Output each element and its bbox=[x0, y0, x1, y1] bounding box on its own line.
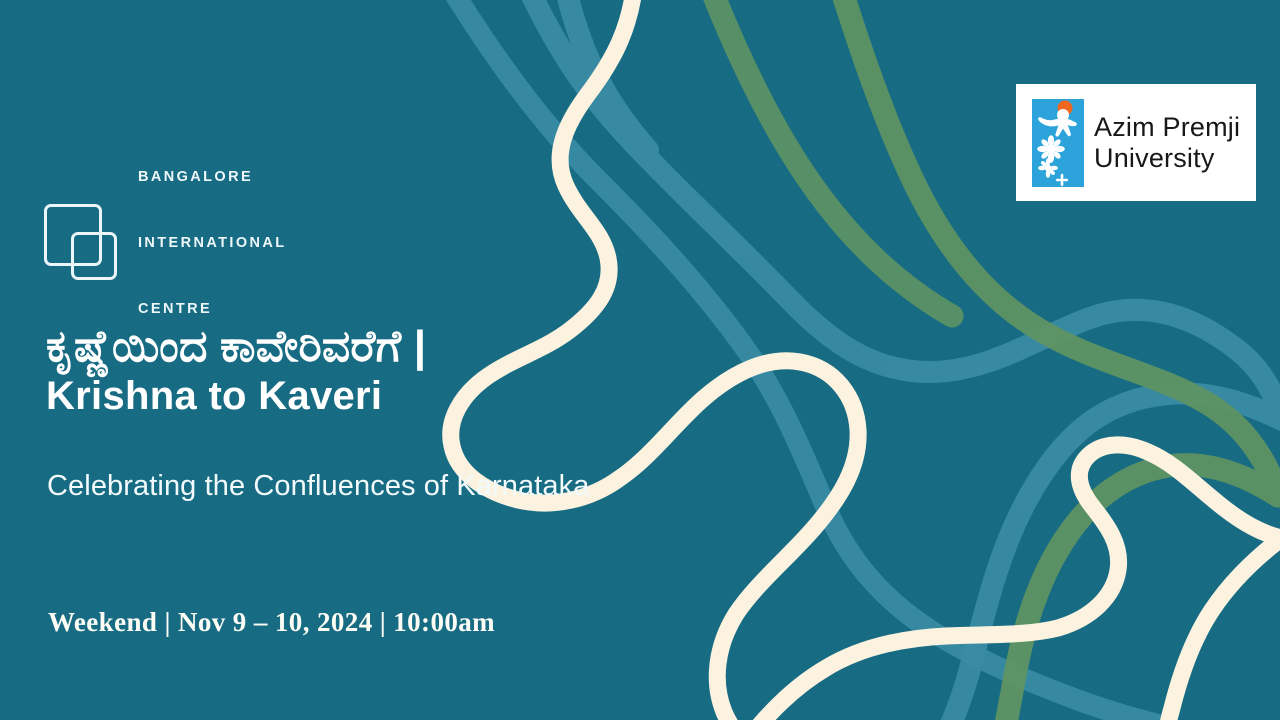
apu-figures-icon bbox=[1032, 99, 1084, 187]
bic-wordmark-line-3: CENTRE bbox=[138, 298, 287, 320]
apu-logo-inner: Azim Premji University bbox=[1016, 99, 1240, 187]
event-poster: BANGALORE INTERNATIONAL CENTRE bbox=[0, 0, 1280, 720]
bic-inner-square-icon bbox=[71, 232, 117, 280]
bic-wordmark-line-1: BANGALORE bbox=[138, 166, 287, 188]
apu-wordmark-line-2: University bbox=[1094, 143, 1240, 173]
headline-block: ಕೃಷ್ಣೆಯಿಂದ ಕಾವೇರಿವರೆಗೆ | Krishna to Kave… bbox=[46, 322, 746, 419]
apu-wordmark: Azim Premji University bbox=[1094, 112, 1240, 172]
bic-wordmark-line-2: INTERNATIONAL bbox=[138, 232, 287, 254]
apu-logo: Azim Premji University bbox=[1016, 84, 1256, 201]
bic-mark-icon bbox=[44, 204, 118, 282]
apu-wordmark-line-1: Azim Premji bbox=[1094, 112, 1240, 142]
apu-mark-icon bbox=[1032, 99, 1084, 187]
event-subtitle: Celebrating the Confluences of Karnataka bbox=[47, 470, 589, 503]
event-title-english: Krishna to Kaveri bbox=[46, 373, 746, 419]
event-schedule: Weekend | Nov 9 – 10, 2024 | 10:00am bbox=[48, 607, 495, 638]
event-title-kannada: ಕೃಷ್ಣೆಯಿಂದ ಕಾವೇರಿವರೆಗೆ | bbox=[46, 322, 746, 371]
